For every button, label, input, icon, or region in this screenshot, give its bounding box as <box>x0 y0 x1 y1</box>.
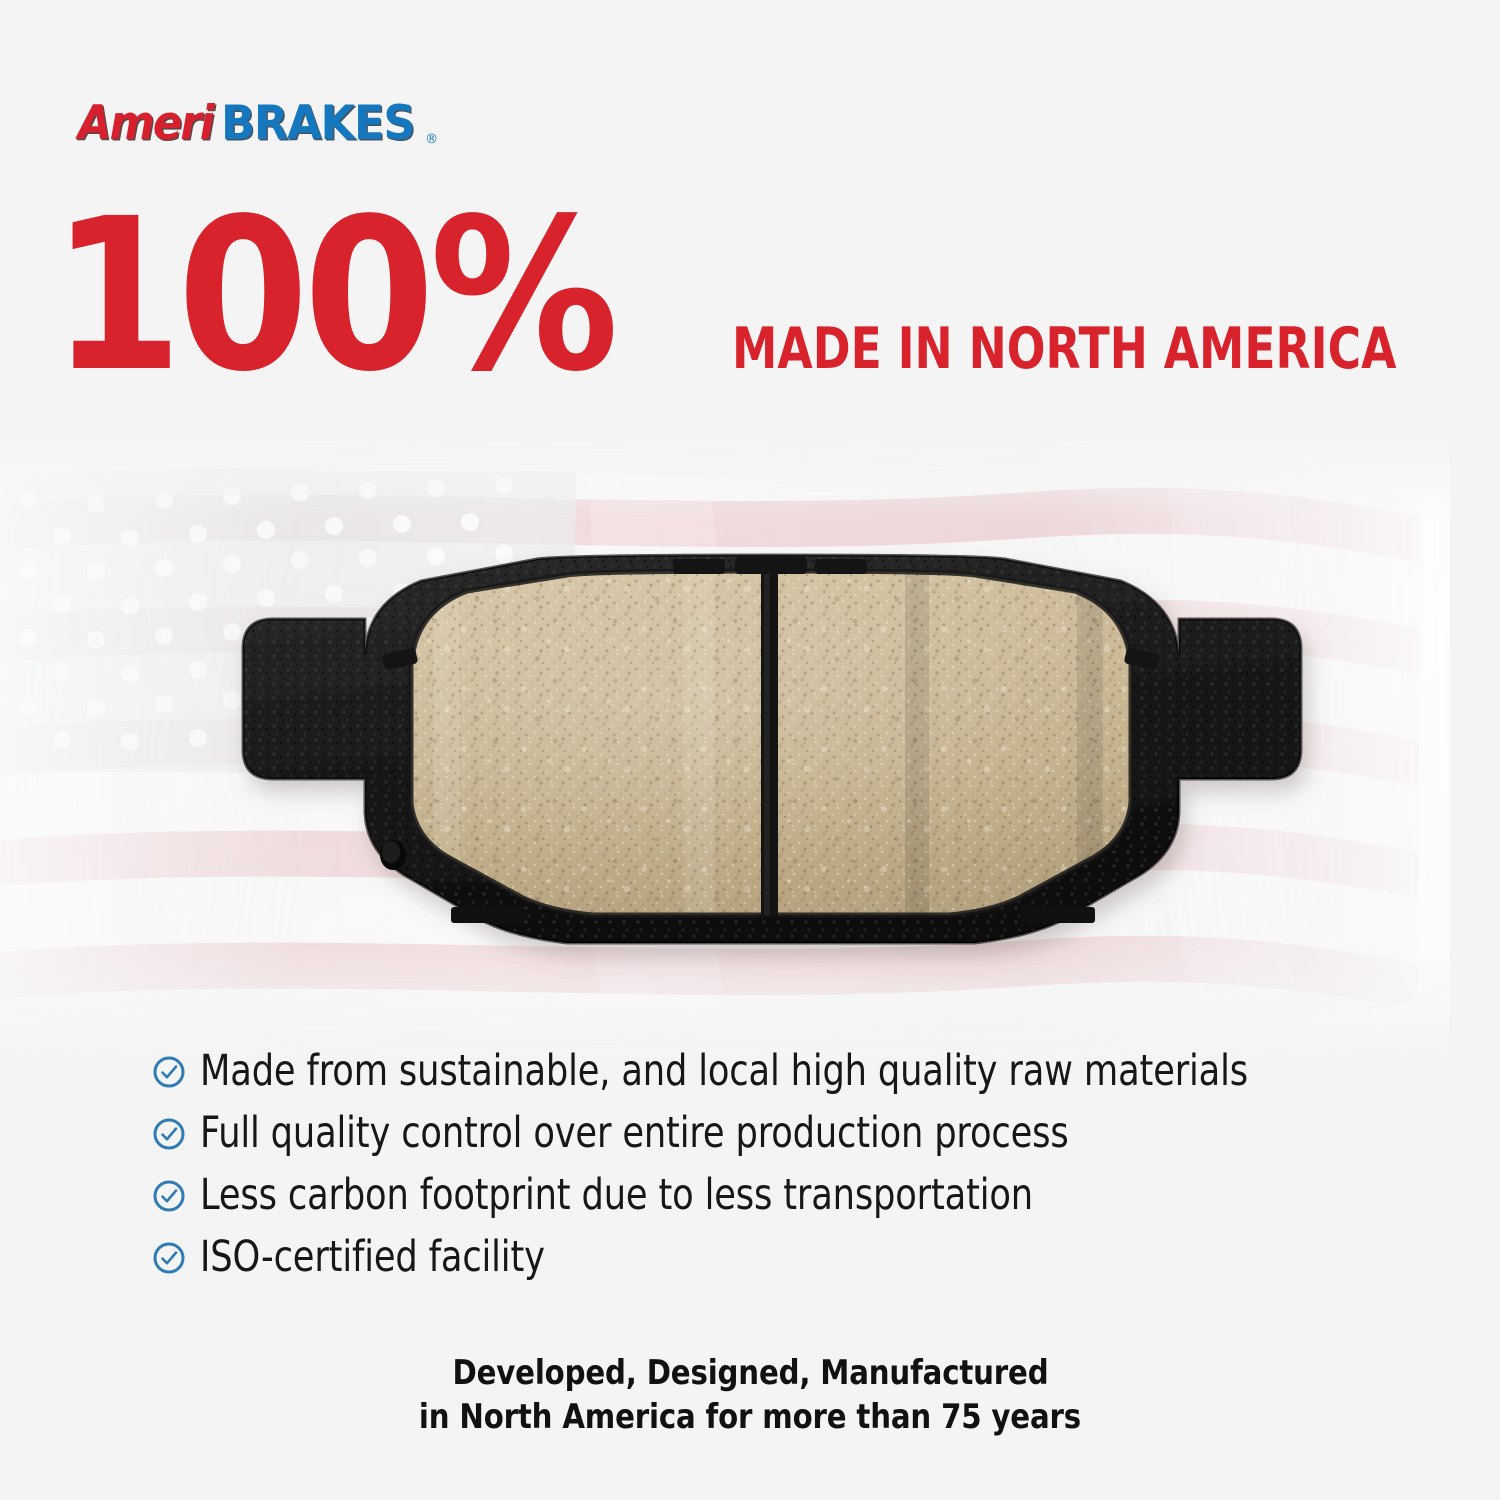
list-item-label: Made from sustainable, and local high qu… <box>200 1050 1248 1093</box>
list-item: Made from sustainable, and local high qu… <box>152 1040 1402 1102</box>
headline-block: 100% MADE IN NORTH AMERICA <box>0 196 1500 396</box>
footer-line-2: in North America for more than 75 years <box>419 1396 1081 1440</box>
headline-subtitle: MADE IN NORTH AMERICA <box>732 321 1396 378</box>
list-item: Less carbon footprint due to less transp… <box>152 1164 1402 1226</box>
product-marketing-poster: Ameri BRAKES ® 100% MADE IN NORTH AMERIC… <box>0 0 1500 1500</box>
center-slot <box>761 571 778 917</box>
registered-trademark-icon: ® <box>425 133 438 146</box>
check-circle-icon <box>152 1179 186 1213</box>
list-item-label: ISO-certified facility <box>200 1236 545 1279</box>
brake-pad-product-image <box>215 555 1330 985</box>
check-circle-icon <box>152 1241 186 1275</box>
list-item-label: Less carbon footprint due to less transp… <box>200 1174 1033 1217</box>
ameribrakes-logo[interactable]: Ameri BRAKES ® <box>78 100 438 147</box>
logo-text-ameri: Ameri <box>78 100 213 147</box>
headline-percent: 100% <box>51 196 613 396</box>
logo-text-brakes: BRAKES <box>221 100 414 147</box>
list-item: Full quality control over entire product… <box>152 1102 1402 1164</box>
check-circle-icon <box>152 1055 186 1089</box>
feature-list: Made from sustainable, and local high qu… <box>152 1040 1402 1288</box>
footer-line-1: Developed, Designed, Manufactured <box>452 1352 1048 1396</box>
list-item-label: Full quality control over entire product… <box>200 1112 1069 1155</box>
check-circle-icon <box>152 1117 186 1151</box>
list-item: ISO-certified facility <box>152 1226 1402 1288</box>
footer-block: Developed, Designed, Manufactured in Nor… <box>0 1352 1500 1439</box>
